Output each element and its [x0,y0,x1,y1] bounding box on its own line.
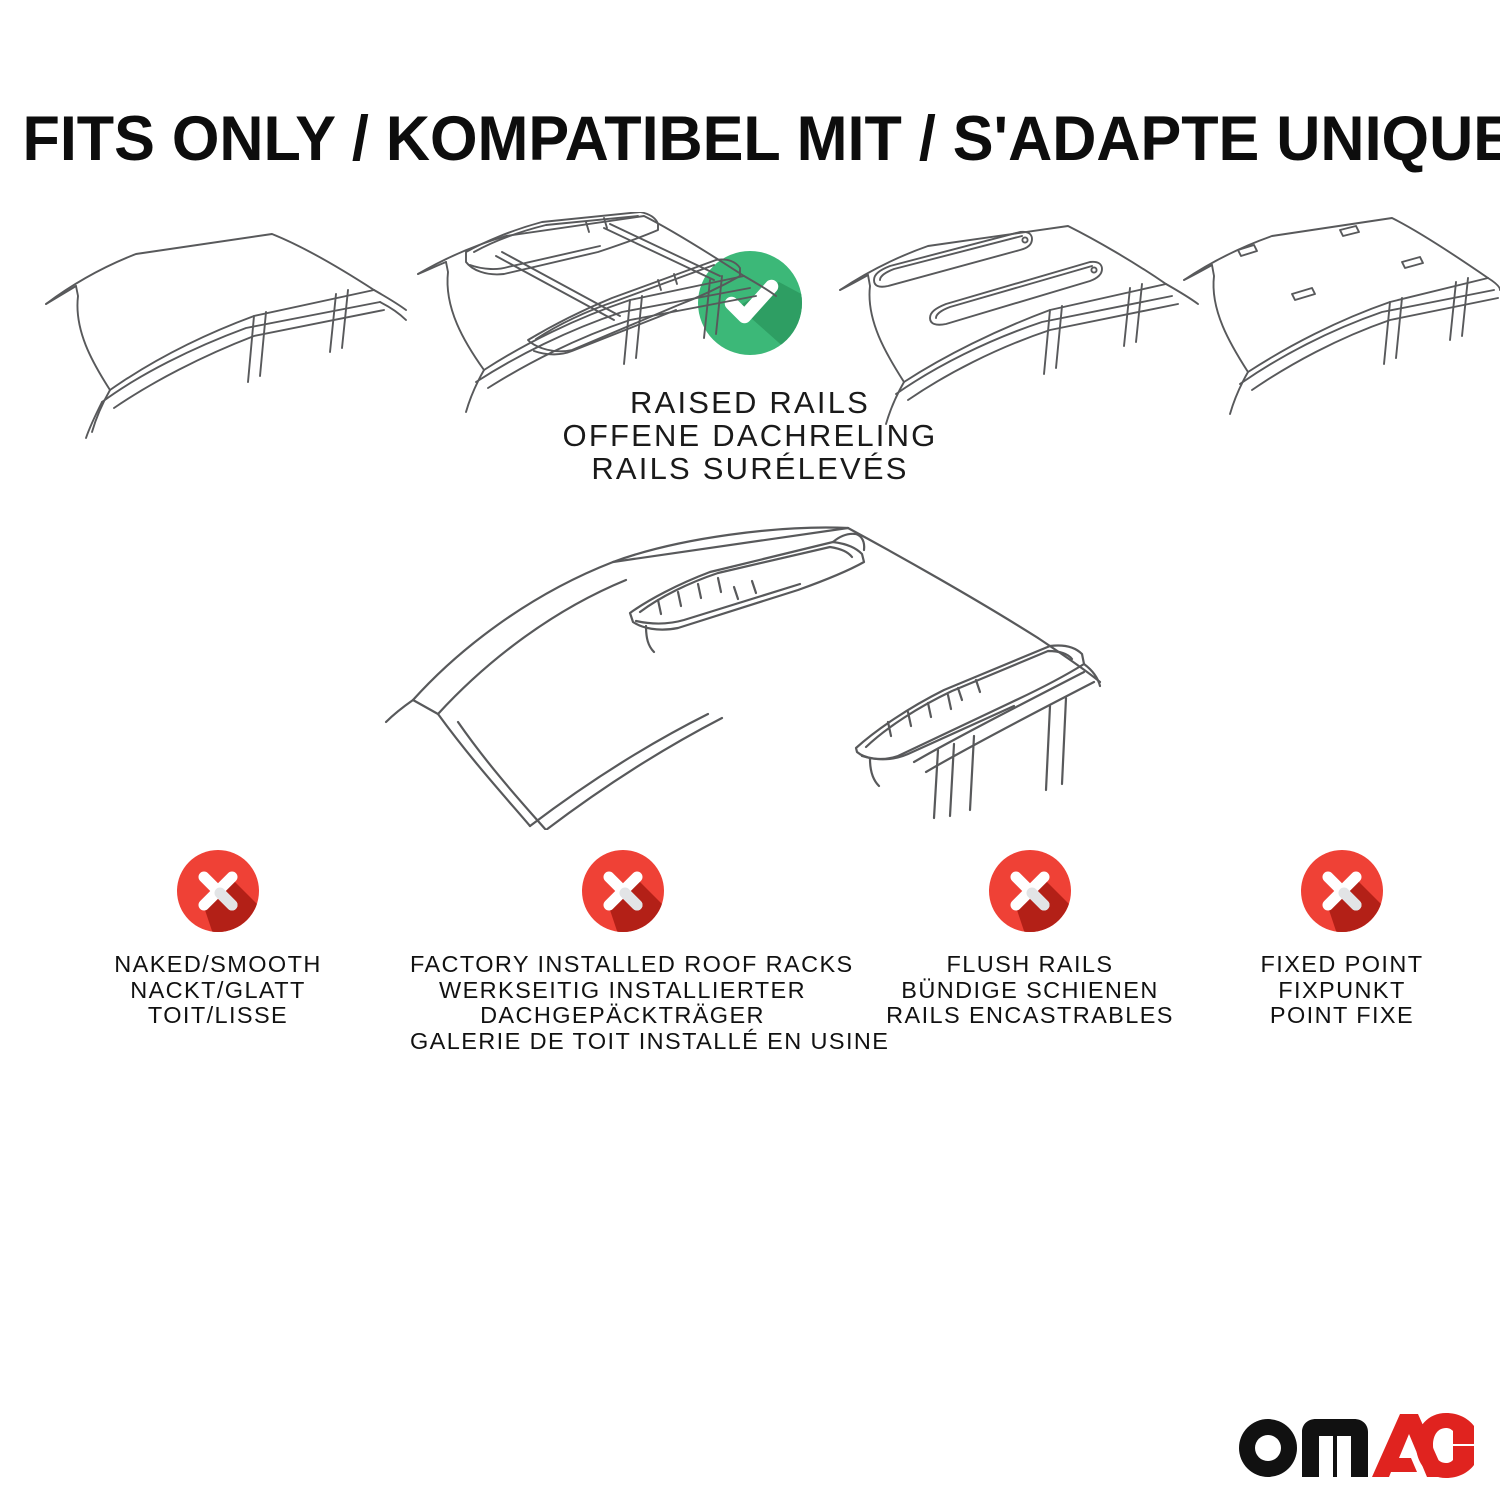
compatible-label-line-3: RAILS SURÉLEVÉS [375,452,1125,485]
car-roof-flush-rails-illustration [832,212,1222,447]
x-circle-icon [987,848,1073,934]
incompatible-section: NAKED/SMOOTH NACKT/GLATT TOIT/LISSE [0,848,1500,1298]
incompatible-label-line-2: WERKSEITIG INSTALLIERTER [410,978,835,1004]
car-roof-factory-roof-racks-illustration [408,212,803,447]
car-roof-naked-smooth-illustration [40,212,410,447]
incompatible-item-flush-rails: FLUSH RAILS BÜNDIGE SCHIENEN RAILS ENCAS… [860,848,1200,1029]
omac-logo [1238,1410,1474,1480]
x-circle-icon [175,848,261,934]
page-title: FITS ONLY / KOMPATIBEL MIT / S'ADAPTE UN… [23,104,1478,174]
incompatible-label-line-3: RAILS ENCASTRABLES [860,1003,1200,1029]
incompatible-label-line-3: TOIT/LISSE [38,1003,398,1029]
incompatible-item-naked-smooth: NAKED/SMOOTH NACKT/GLATT TOIT/LISSE [38,848,398,1029]
incompatible-label-line-4: GALERIE DE TOIT INSTALLÉ EN USINE [410,1029,835,1055]
x-circle-icon [580,848,666,934]
incompatible-label-line-1: FACTORY INSTALLED ROOF RACKS [410,952,835,978]
incompatible-item-factory-roof-racks: FACTORY INSTALLED ROOF RACKS WERKSEITIG … [410,848,835,1054]
incompatible-label-line-3: POINT FIXE [1198,1003,1486,1029]
incompatible-label-line-2: BÜNDIGE SCHIENEN [860,978,1200,1004]
incompatible-item-fixed-point: FIXED POINT FIXPUNKT POINT FIXE [1198,848,1486,1029]
incompatible-label-line-2: FIXPUNKT [1198,978,1486,1004]
fitment-infographic: FITS ONLY / KOMPATIBEL MIT / S'ADAPTE UN… [0,0,1500,1500]
x-circle-icon [1299,848,1385,934]
incompatible-label-line-1: FLUSH RAILS [860,952,1200,978]
incompatible-label-line-3: DACHGEPÄCKTRÄGER [410,1003,835,1029]
incompatible-label-line-1: NAKED/SMOOTH [38,952,398,978]
incompatible-label-line-2: NACKT/GLATT [38,978,398,1004]
car-roof-raised-rails-illustration [378,500,1122,830]
car-roof-fixed-point-illustration [1180,212,1500,447]
incompatible-label-line-1: FIXED POINT [1198,952,1486,978]
